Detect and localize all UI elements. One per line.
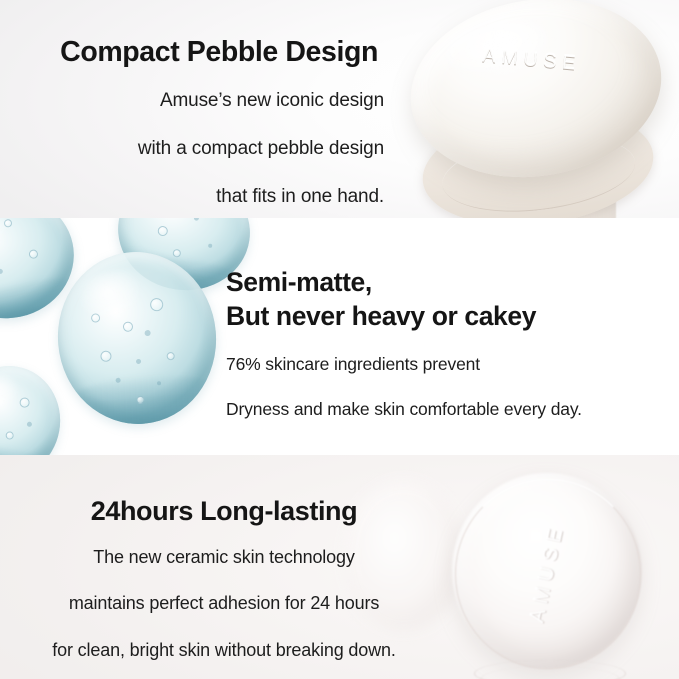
product-image-compact-tilted: AMUSE [404,0,676,218]
panel-1-headline: Compact Pebble Design [0,38,384,68]
panel-2-headline: Semi-matte, But never heavy or cakey [226,265,676,334]
panel-3-body-line-2: maintains perfect adhesion for 24 hours [10,589,438,617]
panel-24hours-long-lasting: AMUSE 24hours Long-lasting The new ceram… [0,455,679,679]
panel-semi-matte: Semi-matte, But never heavy or cakey 76%… [0,218,679,455]
panel-2-body-line-1: 76% skincare ingredients prevent [226,351,676,378]
compact-lid-highlight [435,11,584,92]
panel-1-body-line-1: Amuse’s new iconic design [0,87,384,116]
panel-1-copy: Compact Pebble Design Amuse’s new iconic… [0,38,392,218]
panel-3-headline: 24hours Long-lasting [10,497,438,525]
panel-3-copy: 24hours Long-lasting The new ceramic ski… [10,497,438,679]
product-image-compact-upright: AMUSE [452,473,652,673]
panel-3-body-line-3: for clean, bright skin without breaking … [10,636,438,664]
panel-2-headline-line-2: But never heavy or cakey [226,301,536,331]
panel-1-body-line-2: with a compact pebble design [0,135,384,164]
panel-2-body-line-2: Dryness and make skin comfortable every … [226,396,676,423]
product-feature-infographic: AMUSE Compact Pebble Design Amuse’s new … [0,0,679,679]
panel-1-body-line-3: that fits in one hand. [0,183,384,212]
panel-2-copy: Semi-matte, But never heavy or cakey 76%… [226,265,676,441]
gel-droplet [0,358,69,455]
compact-lid-rim [455,479,641,669]
panel-compact-pebble-design: AMUSE Compact Pebble Design Amuse’s new … [0,0,679,218]
panel-3-body-line-1: The new ceramic skin technology [10,543,438,571]
panel-2-headline-line-1: Semi-matte, [226,267,372,297]
